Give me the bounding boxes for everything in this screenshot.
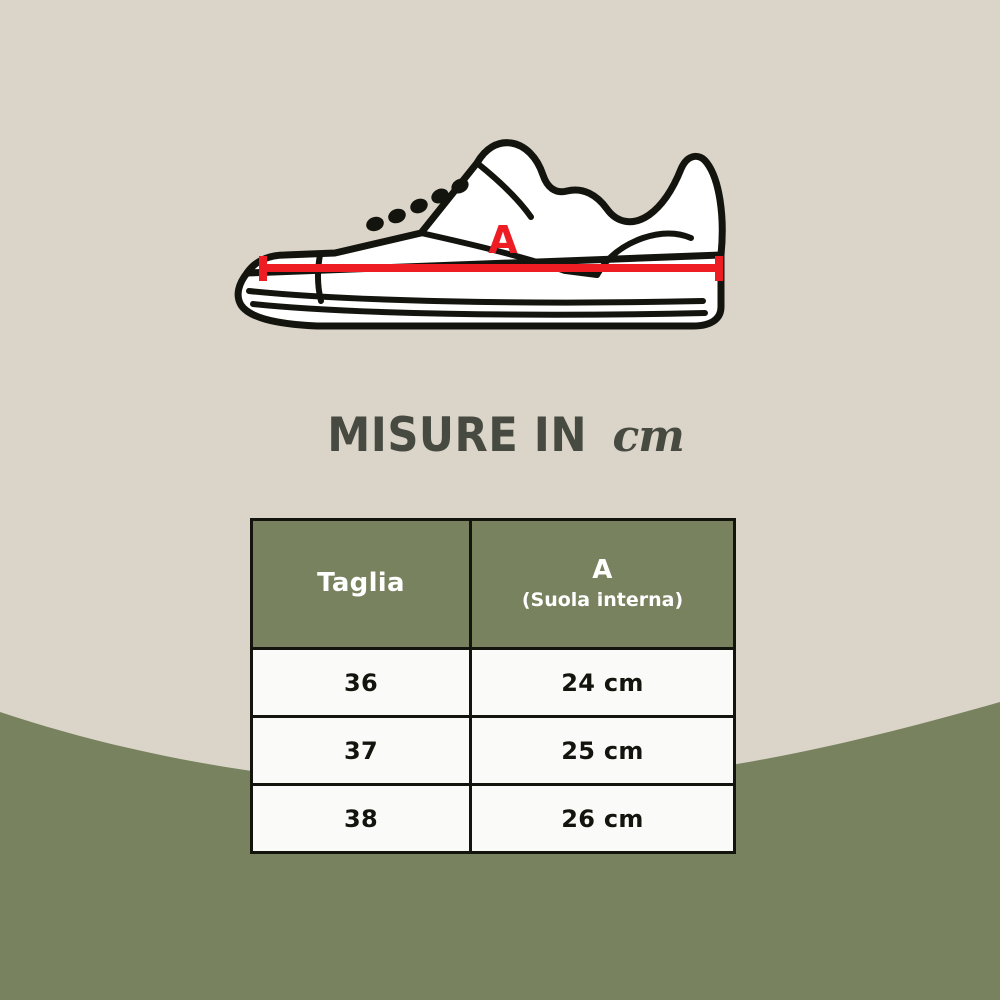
table-row: 37 25 cm: [252, 717, 735, 785]
header-length-label: A: [472, 556, 733, 586]
header-length-sublabel: (Suola interna): [472, 588, 733, 613]
measure-label-a: A: [488, 218, 518, 262]
cell-size: 36: [252, 649, 471, 717]
cell-length: 26 cm: [471, 785, 735, 853]
size-chart-canvas: A MISURE INcm Taglia A (Suola interna) 3…: [0, 0, 1000, 1000]
chart-title: MISURE INcm: [0, 412, 1000, 459]
header-cell-length: A (Suola interna): [471, 520, 735, 649]
title-main-text: MISURE IN: [327, 412, 587, 459]
table-row: 38 26 cm: [252, 785, 735, 853]
cell-size: 37: [252, 717, 471, 785]
cell-length: 25 cm: [471, 717, 735, 785]
cell-length: 24 cm: [471, 649, 735, 717]
table-header-row: Taglia A (Suola interna): [252, 520, 735, 649]
size-table: Taglia A (Suola interna) 36 24 cm 37 25 …: [250, 518, 736, 854]
cell-size: 38: [252, 785, 471, 853]
table-row: 36 24 cm: [252, 649, 735, 717]
header-cell-size: Taglia: [252, 520, 471, 649]
title-unit-text: cm: [612, 415, 683, 459]
sneaker-illustration: A: [225, 105, 755, 345]
header-size-label: Taglia: [253, 569, 469, 599]
sneaker-svg: A: [225, 105, 755, 345]
